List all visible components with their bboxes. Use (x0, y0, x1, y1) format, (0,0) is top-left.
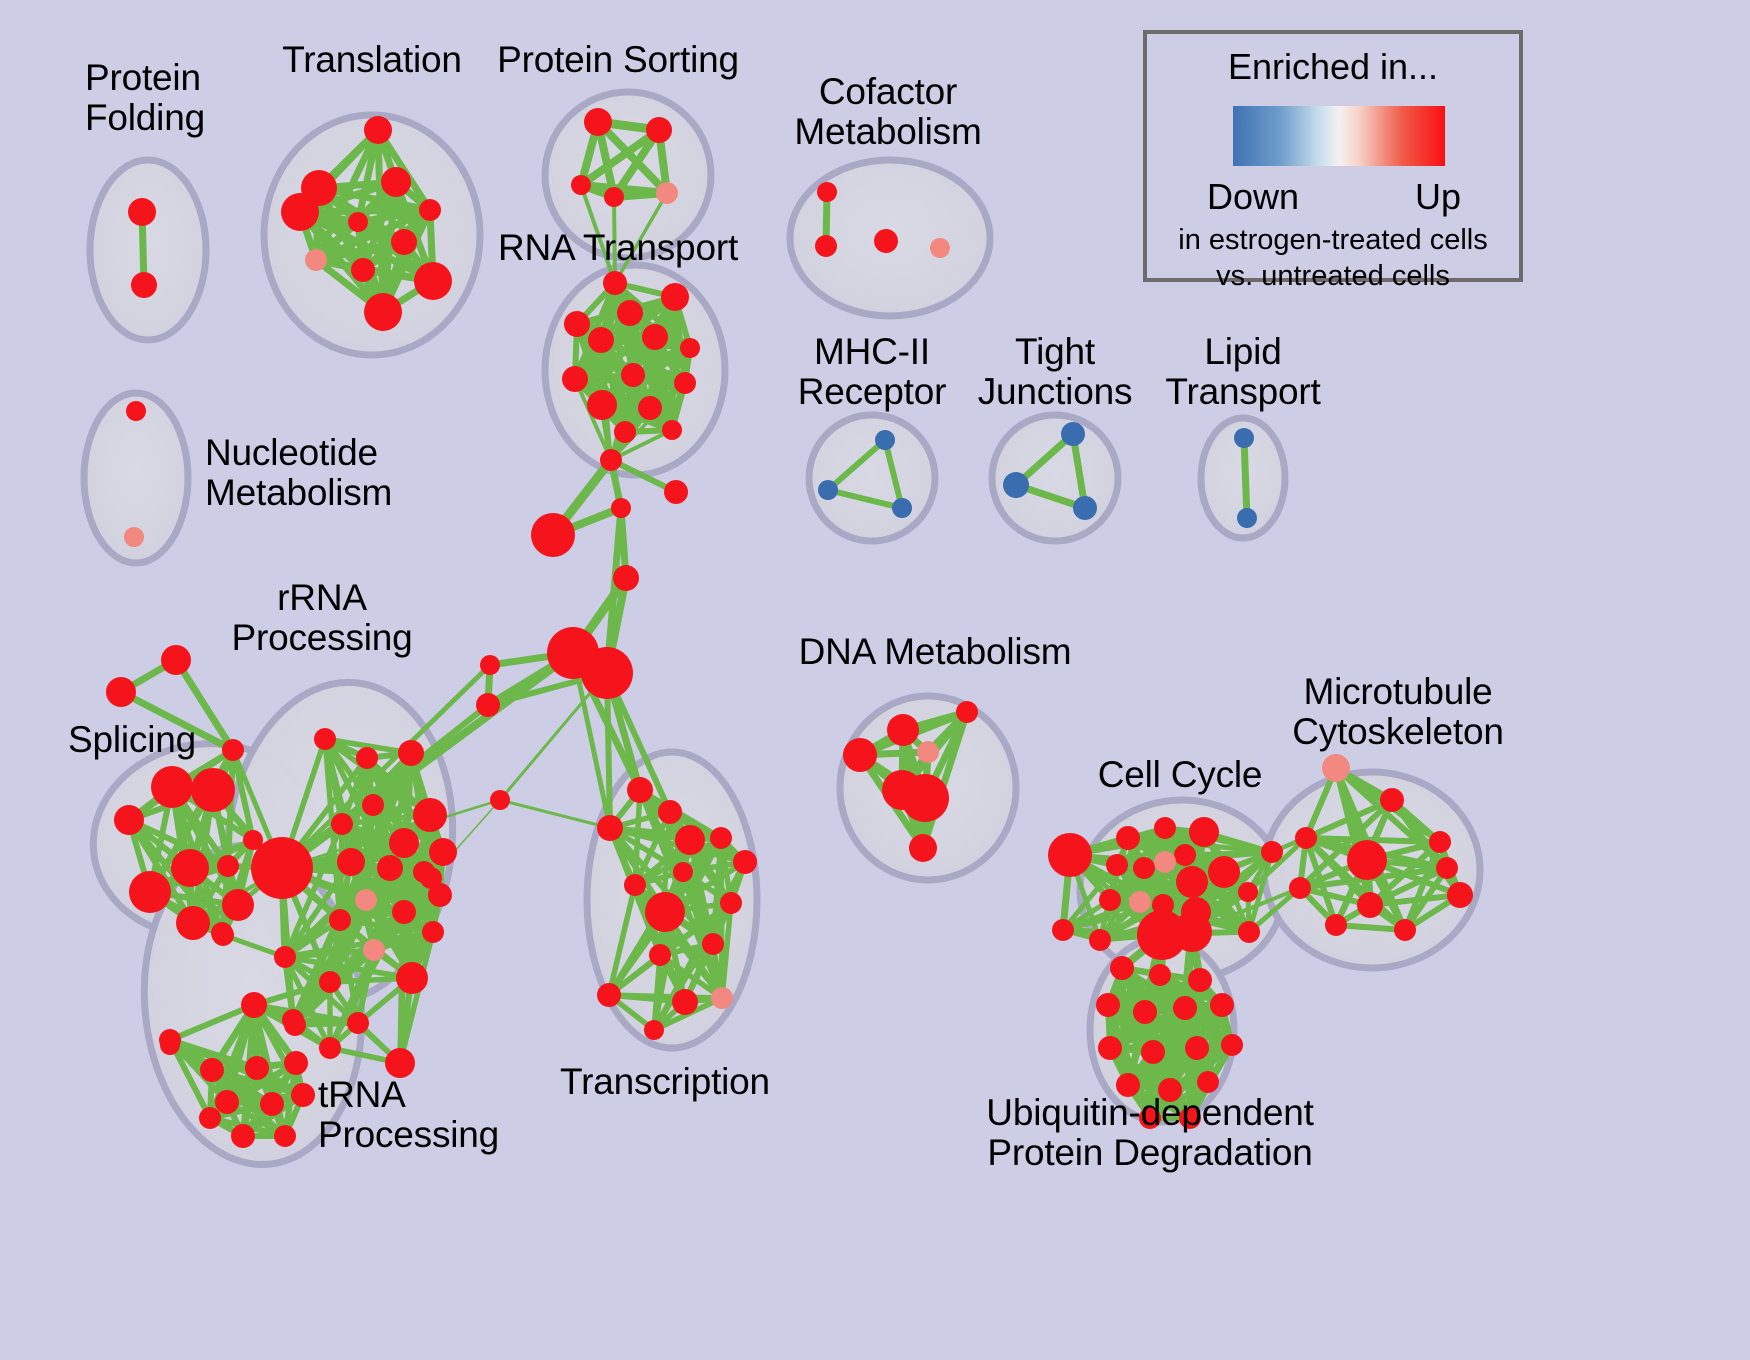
network-node[interactable] (1322, 754, 1350, 782)
network-node[interactable] (887, 714, 919, 746)
color-scale-bar (1233, 106, 1445, 166)
network-node[interactable] (1234, 428, 1254, 448)
cluster-label-ubiquitin-protein-degradation: Ubiquitin-dependent Protein Degradation (986, 1093, 1313, 1173)
network-node[interactable] (661, 283, 689, 311)
network-node[interactable] (564, 311, 590, 337)
network-node[interactable] (331, 813, 353, 835)
network-node[interactable] (347, 1012, 369, 1034)
network-node[interactable] (720, 892, 742, 914)
network-node[interactable] (1133, 1000, 1157, 1024)
network-node[interactable] (355, 889, 377, 911)
network-node[interactable] (1149, 964, 1171, 986)
network-node[interactable] (1289, 877, 1311, 899)
cluster-label-protein-sorting: Protein Sorting (497, 40, 739, 80)
network-node[interactable] (362, 794, 384, 816)
network-node[interactable] (222, 739, 244, 761)
network-node[interactable] (817, 182, 837, 202)
network-node[interactable] (480, 655, 500, 675)
network-node[interactable] (1052, 919, 1074, 941)
network-node[interactable] (662, 420, 682, 440)
network-node[interactable] (1106, 854, 1128, 876)
network-node[interactable] (614, 421, 636, 443)
network-node[interactable] (1238, 882, 1258, 902)
network-node[interactable] (664, 480, 688, 504)
network-node[interactable] (377, 855, 403, 881)
cluster-label-nucleotide-metabolism: Nucleotide Metabolism (205, 433, 392, 513)
network-node[interactable] (1237, 508, 1257, 528)
network-node[interactable] (199, 1107, 221, 1129)
network-node[interactable] (843, 738, 877, 772)
network-node[interactable] (1295, 827, 1317, 849)
network-node[interactable] (106, 677, 136, 707)
network-node[interactable] (711, 987, 733, 1009)
network-node[interactable] (131, 272, 157, 298)
network-node[interactable] (314, 728, 336, 750)
network-node[interactable] (171, 849, 209, 887)
network-node[interactable] (1099, 889, 1121, 911)
network-node[interactable] (710, 827, 732, 849)
network-node[interactable] (126, 401, 146, 421)
network-node[interactable] (124, 527, 144, 547)
network-node[interactable] (191, 768, 235, 812)
network-node[interactable] (414, 262, 452, 300)
network-node[interactable] (260, 1092, 284, 1116)
network-node[interactable] (319, 971, 341, 993)
network-node[interactable] (389, 828, 419, 858)
network-node[interactable] (588, 327, 614, 353)
network-node[interactable] (587, 390, 617, 420)
network-node[interactable] (1003, 472, 1029, 498)
network-node[interactable] (200, 1058, 224, 1082)
network-node[interactable] (422, 921, 444, 943)
network-node[interactable] (419, 199, 441, 221)
network-node[interactable] (1197, 1071, 1219, 1093)
network-node[interactable] (1238, 921, 1260, 943)
network-node[interactable] (1325, 914, 1347, 936)
network-node[interactable] (241, 992, 267, 1018)
network-node[interactable] (490, 790, 510, 810)
legend-high-label: Up (1415, 176, 1461, 218)
network-node[interactable] (733, 850, 757, 874)
legend-low-label: Down (1207, 176, 1299, 218)
network-node[interactable] (420, 867, 442, 889)
network-node[interactable] (646, 117, 672, 143)
network-node[interactable] (531, 513, 575, 557)
network-node[interactable] (381, 167, 411, 197)
network-node[interactable] (1208, 856, 1240, 888)
network-node[interactable] (291, 1083, 315, 1107)
network-node[interactable] (603, 271, 627, 295)
network-node[interactable] (645, 892, 685, 932)
network-node[interactable] (1394, 919, 1416, 941)
network-node[interactable] (251, 837, 313, 899)
network-node[interactable] (584, 108, 612, 136)
network-node[interactable] (930, 238, 950, 258)
network-node[interactable] (909, 834, 937, 862)
network-node[interactable] (356, 747, 378, 769)
network-node[interactable] (1347, 840, 1387, 880)
cluster-label-splicing: Splicing (68, 720, 196, 760)
network-node[interactable] (222, 889, 254, 921)
network-node[interactable] (1073, 496, 1097, 520)
network-node[interactable] (364, 293, 402, 331)
network-node[interactable] (391, 229, 417, 255)
network-node[interactable] (562, 366, 588, 392)
network-node[interactable] (1089, 929, 1111, 951)
network-node[interactable] (1188, 968, 1212, 992)
network-node[interactable] (319, 1037, 341, 1059)
network-node[interactable] (396, 962, 428, 994)
network-node[interactable] (1154, 817, 1176, 839)
network-node[interactable] (581, 647, 633, 699)
network-node[interactable] (617, 300, 643, 326)
network-node[interactable] (901, 774, 949, 822)
network-node[interactable] (337, 848, 365, 876)
network-edge (500, 800, 610, 828)
network-node[interactable] (892, 498, 912, 518)
network-node[interactable] (245, 1056, 269, 1080)
network-node[interactable] (674, 372, 696, 394)
cluster-label-protein-folding: Protein Folding (85, 58, 205, 138)
network-node[interactable] (329, 909, 351, 931)
enrichment-map-figure: Protein FoldingTranslationNucleotide Met… (0, 0, 1750, 1360)
network-node[interactable] (597, 815, 623, 841)
network-node[interactable] (160, 1035, 180, 1055)
network-node[interactable] (1221, 1034, 1243, 1056)
network-node[interactable] (284, 1014, 306, 1036)
network-node[interactable] (231, 1124, 255, 1148)
cluster-label-cofactor-metabolism: Cofactor Metabolism (794, 72, 981, 152)
network-node[interactable] (604, 187, 624, 207)
cluster-label-rrna-processing: rRNA Processing (231, 578, 412, 658)
network-node[interactable] (1172, 912, 1212, 952)
network-node[interactable] (1210, 993, 1234, 1017)
cluster-ellipse-protein-folding (90, 160, 206, 340)
network-node[interactable] (638, 396, 662, 420)
network-node[interactable] (398, 740, 424, 766)
network-node[interactable] (1436, 857, 1458, 879)
network-node[interactable] (680, 338, 700, 358)
network-node[interactable] (649, 944, 671, 966)
network-node[interactable] (1429, 831, 1451, 853)
network-node[interactable] (1098, 1036, 1122, 1060)
network-node[interactable] (1129, 891, 1151, 913)
network-node[interactable] (673, 862, 693, 882)
network-node[interactable] (656, 182, 678, 204)
network-node[interactable] (151, 766, 193, 808)
cluster-label-cell-cycle: Cell Cycle (1098, 755, 1263, 795)
network-node[interactable] (476, 693, 500, 717)
network-node[interactable] (624, 874, 646, 896)
network-node[interactable] (429, 838, 457, 866)
network-node[interactable] (1189, 817, 1219, 847)
network-node[interactable] (600, 449, 622, 471)
network-node[interactable] (413, 798, 447, 832)
legend-panel: Enriched in... Down Up in estrogen-treat… (1143, 30, 1523, 282)
network-node[interactable] (956, 701, 978, 723)
network-node[interactable] (818, 480, 838, 500)
network-node[interactable] (284, 1051, 308, 1075)
network-node[interactable] (1061, 422, 1085, 446)
network-node[interactable] (1133, 857, 1155, 879)
network-node[interactable] (613, 565, 639, 591)
network-node[interactable] (1154, 851, 1176, 873)
network-node[interactable] (621, 363, 645, 387)
network-node[interactable] (642, 324, 668, 350)
network-node[interactable] (364, 116, 392, 144)
cluster-label-trna-processing: tRNA Processing (318, 1075, 499, 1155)
network-node[interactable] (1173, 996, 1197, 1020)
network-node[interactable] (702, 933, 724, 955)
legend-title: Enriched in... (1147, 46, 1519, 88)
network-node[interactable] (348, 212, 368, 232)
network-node[interactable] (627, 777, 653, 803)
cluster-label-dna-metabolism: DNA Metabolism (799, 632, 1072, 672)
network-node[interactable] (211, 922, 233, 944)
network-node[interactable] (571, 175, 591, 195)
network-edge (1244, 438, 1247, 518)
network-node[interactable] (644, 1020, 664, 1040)
network-node[interactable] (363, 939, 385, 961)
network-node[interactable] (176, 906, 210, 940)
network-node[interactable] (1380, 788, 1404, 812)
cluster-ellipse-mhc-ii-receptor (809, 415, 935, 541)
cluster-label-transcription: Transcription (560, 1062, 770, 1102)
cluster-label-translation: Translation (282, 40, 461, 80)
network-node[interactable] (305, 249, 327, 271)
network-node[interactable] (658, 800, 682, 824)
network-node[interactable] (114, 805, 144, 835)
network-node[interactable] (1048, 833, 1092, 877)
network-node[interactable] (1185, 1036, 1209, 1060)
cluster-label-mhc-ii-receptor: MHC-II Receptor (798, 332, 947, 412)
cluster-label-lipid-transport: Lipid Transport (1165, 332, 1320, 412)
network-node[interactable] (815, 235, 837, 257)
cluster-label-tight-junctions: Tight Junctions (978, 332, 1133, 412)
network-node[interactable] (917, 741, 939, 763)
network-node[interactable] (281, 193, 319, 231)
legend-subtitle-line1: in estrogen-treated cells (1147, 224, 1519, 257)
cluster-label-microtubule-cytoskeleton: Microtubule Cytoskeleton (1292, 672, 1504, 752)
network-node[interactable] (1116, 826, 1140, 850)
network-node[interactable] (1357, 892, 1383, 918)
cluster-label-rna-transport: RNA Transport (498, 228, 738, 268)
network-node[interactable] (875, 430, 895, 450)
network-node[interactable] (675, 825, 705, 855)
network-node[interactable] (1110, 956, 1134, 980)
network-node[interactable] (1141, 1040, 1165, 1064)
network-node[interactable] (672, 989, 698, 1015)
network-node[interactable] (217, 855, 239, 877)
network-node[interactable] (597, 983, 621, 1007)
network-node[interactable] (129, 871, 171, 913)
network-node[interactable] (274, 1125, 296, 1147)
network-node[interactable] (874, 229, 898, 253)
network-node[interactable] (351, 258, 375, 282)
network-node[interactable] (1176, 866, 1208, 898)
network-node[interactable] (611, 498, 631, 518)
network-node[interactable] (128, 198, 156, 226)
network-node[interactable] (274, 946, 296, 968)
network-node[interactable] (161, 645, 191, 675)
legend-subtitle-line2: vs. untreated cells (1147, 260, 1519, 293)
network-node[interactable] (1447, 882, 1473, 908)
network-node[interactable] (392, 900, 416, 924)
network-node[interactable] (1096, 993, 1120, 1017)
network-node[interactable] (215, 1090, 239, 1114)
network-node[interactable] (1174, 844, 1196, 866)
network-node[interactable] (1261, 841, 1283, 863)
